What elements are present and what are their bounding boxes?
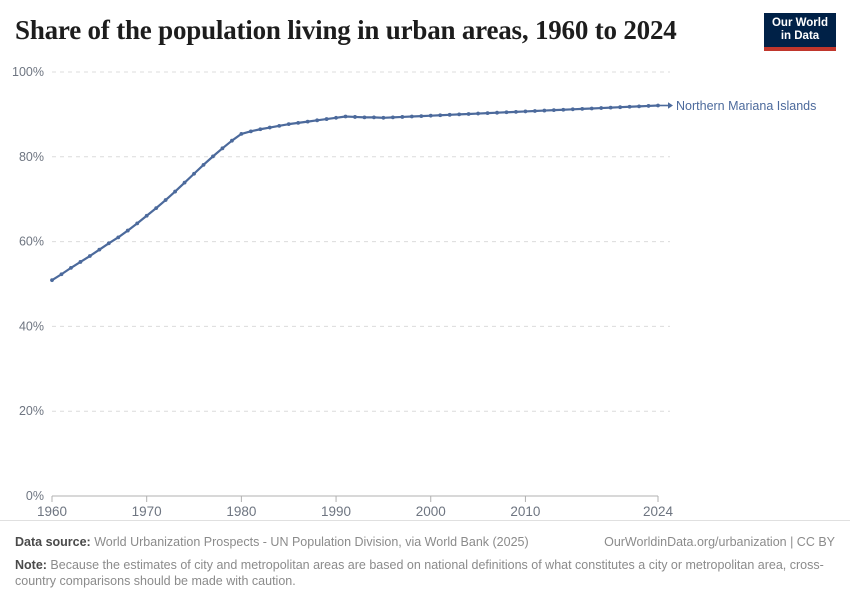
note-line: Note: Because the estimates of city and … <box>15 557 825 589</box>
data-source-line: Data source: World Urbanization Prospect… <box>15 534 529 550</box>
data-point-marker[interactable] <box>372 115 376 119</box>
x-axis-group <box>52 496 658 502</box>
data-point-marker[interactable] <box>249 129 253 133</box>
data-point-marker[interactable] <box>277 124 281 128</box>
data-point-marker[interactable] <box>571 107 575 111</box>
y-axis-tick-label: 60% <box>19 235 44 249</box>
y-axis-tick-label: 20% <box>19 404 44 418</box>
data-point-marker[interactable] <box>107 241 111 245</box>
data-point-marker[interactable] <box>552 108 556 112</box>
gridlines-group <box>52 72 670 411</box>
x-axis-tick-label: 1970 <box>132 504 162 517</box>
data-point-marker[interactable] <box>429 114 433 118</box>
logo-line-2: in Data <box>764 30 836 43</box>
note-label: Note: <box>15 558 47 572</box>
data-point-marker[interactable] <box>599 106 603 110</box>
series-label-arrow-icon <box>668 102 673 108</box>
data-point-marker[interactable] <box>542 109 546 113</box>
chart-plot-area[interactable]: 0%20%40%60%80%100% 196019701980199020002… <box>0 62 850 517</box>
data-point-marker[interactable] <box>126 229 130 233</box>
series-line[interactable] <box>52 105 658 280</box>
chart-footer: Data source: World Urbanization Prospect… <box>0 520 850 601</box>
data-point-marker[interactable] <box>164 198 168 202</box>
x-axis-labels-group: 1960197019801990200020102024 <box>37 504 674 517</box>
data-point-marker[interactable] <box>628 105 632 109</box>
data-point-marker[interactable] <box>344 115 348 119</box>
y-axis-labels-group: 0%20%40%60%80%100% <box>12 65 44 503</box>
data-point-marker[interactable] <box>192 172 196 176</box>
page-title: Share of the population living in urban … <box>15 14 715 46</box>
data-point-marker[interactable] <box>287 122 291 126</box>
data-point-marker[interactable] <box>306 120 310 124</box>
data-point-marker[interactable] <box>50 278 54 282</box>
data-point-marker[interactable] <box>647 104 651 108</box>
logo-line-1: Our World <box>764 17 836 30</box>
y-axis-tick-label: 0% <box>26 489 44 503</box>
data-point-marker[interactable] <box>561 108 565 112</box>
data-point-marker[interactable] <box>514 110 518 114</box>
data-point-marker[interactable] <box>363 115 367 119</box>
data-point-marker[interactable] <box>457 113 461 117</box>
series-end-label-group[interactable]: Northern Mariana Islands <box>658 99 816 113</box>
data-point-marker[interactable] <box>590 107 594 111</box>
data-point-marker[interactable] <box>448 113 452 117</box>
data-point-marker[interactable] <box>202 163 206 167</box>
data-source-label: Data source: <box>15 535 91 549</box>
data-point-marker[interactable] <box>239 132 243 136</box>
data-point-marker[interactable] <box>353 115 357 119</box>
x-axis-tick-label: 2000 <box>416 504 446 517</box>
data-point-marker[interactable] <box>382 116 386 120</box>
data-point-marker[interactable] <box>400 115 404 119</box>
x-axis-tick-label: 1960 <box>37 504 67 517</box>
data-point-marker[interactable] <box>438 113 442 117</box>
y-axis-tick-label: 80% <box>19 150 44 164</box>
data-point-marker[interactable] <box>637 104 641 108</box>
data-source-text: World Urbanization Prospects - UN Popula… <box>91 535 529 549</box>
data-point-marker[interactable] <box>325 117 329 121</box>
data-point-marker[interactable] <box>391 115 395 119</box>
data-point-marker[interactable] <box>505 110 509 114</box>
data-point-marker[interactable] <box>145 214 149 218</box>
data-point-marker[interactable] <box>609 106 613 110</box>
data-point-marker[interactable] <box>268 126 272 130</box>
data-point-marker[interactable] <box>334 116 338 120</box>
data-point-marker[interactable] <box>211 154 215 158</box>
x-axis-tick-label: 2024 <box>643 504 674 517</box>
data-point-marker[interactable] <box>410 115 414 119</box>
data-point-marker[interactable] <box>88 254 92 258</box>
x-axis-tick-label: 2010 <box>510 504 540 517</box>
line-chart-svg: 0%20%40%60%80%100% 196019701980199020002… <box>0 62 850 517</box>
series-group[interactable] <box>50 104 660 282</box>
data-point-marker[interactable] <box>97 248 101 252</box>
x-axis-tick-label: 1990 <box>321 504 351 517</box>
data-point-marker[interactable] <box>116 235 120 239</box>
chart-header: Share of the population living in urban … <box>0 0 850 62</box>
data-point-marker[interactable] <box>419 114 423 118</box>
owid-logo[interactable]: Our World in Data <box>764 13 836 51</box>
data-point-marker[interactable] <box>495 111 499 115</box>
data-point-marker[interactable] <box>183 181 187 185</box>
data-point-marker[interactable] <box>580 107 584 111</box>
data-point-marker[interactable] <box>173 190 177 194</box>
data-point-marker[interactable] <box>476 112 480 116</box>
series-label[interactable]: Northern Mariana Islands <box>676 99 816 113</box>
license-line[interactable]: OurWorldinData.org/urbanization | CC BY <box>604 534 835 550</box>
data-point-marker[interactable] <box>154 206 158 210</box>
x-axis-tick-label: 1980 <box>226 504 256 517</box>
data-point-marker[interactable] <box>79 260 83 264</box>
data-point-marker[interactable] <box>315 118 319 122</box>
note-text: Because the estimates of city and metrop… <box>15 558 824 588</box>
data-point-marker[interactable] <box>533 109 537 113</box>
data-point-marker[interactable] <box>524 110 528 114</box>
data-point-marker[interactable] <box>135 221 139 225</box>
data-point-marker[interactable] <box>60 272 64 276</box>
data-point-marker[interactable] <box>69 266 73 270</box>
data-point-marker[interactable] <box>230 139 234 143</box>
data-point-marker[interactable] <box>296 121 300 125</box>
y-axis-tick-label: 40% <box>19 319 44 333</box>
data-point-marker[interactable] <box>618 105 622 109</box>
data-point-marker[interactable] <box>486 111 490 115</box>
data-point-marker[interactable] <box>221 146 225 150</box>
data-point-marker[interactable] <box>467 112 471 116</box>
data-point-marker[interactable] <box>258 127 262 131</box>
y-axis-tick-label: 100% <box>12 65 44 79</box>
